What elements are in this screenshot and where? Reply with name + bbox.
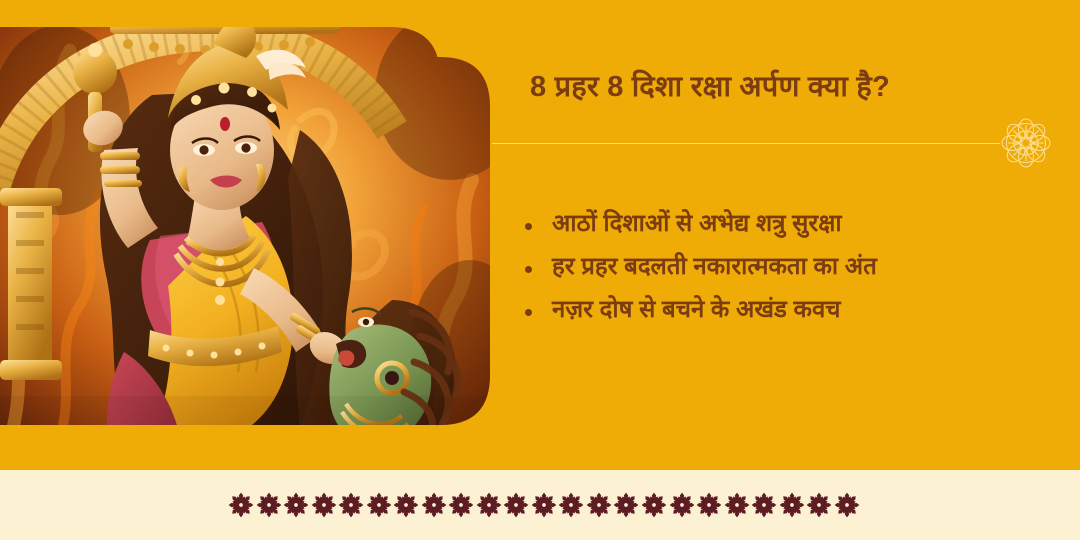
artwork-clip	[0, 0, 500, 470]
flower-glyph-icon	[806, 492, 832, 518]
section-divider	[492, 143, 1000, 144]
content-column: 8 प्रहर 8 दिशा रक्षा अर्पण क्या है?	[492, 0, 1080, 470]
flower-glyph-icon	[366, 492, 392, 518]
flower-glyph-icon	[311, 492, 337, 518]
list-item-label: नज़र दोष से बचने के अखंड कवच	[552, 296, 841, 323]
benefit-list: आठों दिशाओं से अभेद्य शत्रु सुरक्षा हर प…	[522, 212, 1062, 341]
list-item-label: आठों दिशाओं से अभेद्य शत्रु सुरक्षा	[552, 210, 842, 237]
bullet-dot-icon	[525, 309, 532, 316]
goddess-artwork-image	[0, 0, 500, 470]
artwork-panel	[0, 0, 500, 470]
flower-glyph-icon	[338, 492, 364, 518]
flower-glyph-icon	[476, 492, 502, 518]
list-item: नज़र दोष से बचने के अखंड कवच	[522, 298, 1062, 322]
flower-glyph-icon	[724, 492, 750, 518]
promo-slide: 8 प्रहर 8 दिशा रक्षा अर्पण क्या है?	[0, 0, 1080, 540]
flower-glyph-icon	[779, 492, 805, 518]
flower-glyph-icon	[613, 492, 639, 518]
list-item: आठों दिशाओं से अभेद्य शत्रु सुरक्षा	[522, 212, 1062, 236]
flower-border	[228, 488, 860, 522]
flower-glyph-icon	[669, 492, 695, 518]
flower-glyph-icon	[586, 492, 612, 518]
flower-glyph-icon	[256, 492, 282, 518]
flower-glyph-icon	[751, 492, 777, 518]
flower-glyph-icon	[641, 492, 667, 518]
bottom-decorative-band	[0, 470, 1080, 540]
flower-glyph-icon	[531, 492, 557, 518]
flower-glyph-icon	[834, 492, 860, 518]
flower-glyph-icon	[283, 492, 309, 518]
bullet-dot-icon	[525, 223, 532, 230]
list-item-label: हर प्रहर बदलती नकारात्मकता का अंत	[552, 253, 877, 280]
bullet-dot-icon	[525, 266, 532, 273]
flower-glyph-icon	[393, 492, 419, 518]
flower-glyph-icon	[558, 492, 584, 518]
flower-glyph-icon	[696, 492, 722, 518]
flower-glyph-icon	[228, 492, 254, 518]
mandala-ornament-icon	[996, 113, 1056, 173]
list-item: हर प्रहर बदलती नकारात्मकता का अंत	[522, 255, 1062, 279]
flower-glyph-icon	[448, 492, 474, 518]
flower-glyph-icon	[503, 492, 529, 518]
page-title: 8 प्रहर 8 दिशा रक्षा अर्पण क्या है?	[530, 69, 1050, 107]
flower-glyph-icon	[421, 492, 447, 518]
